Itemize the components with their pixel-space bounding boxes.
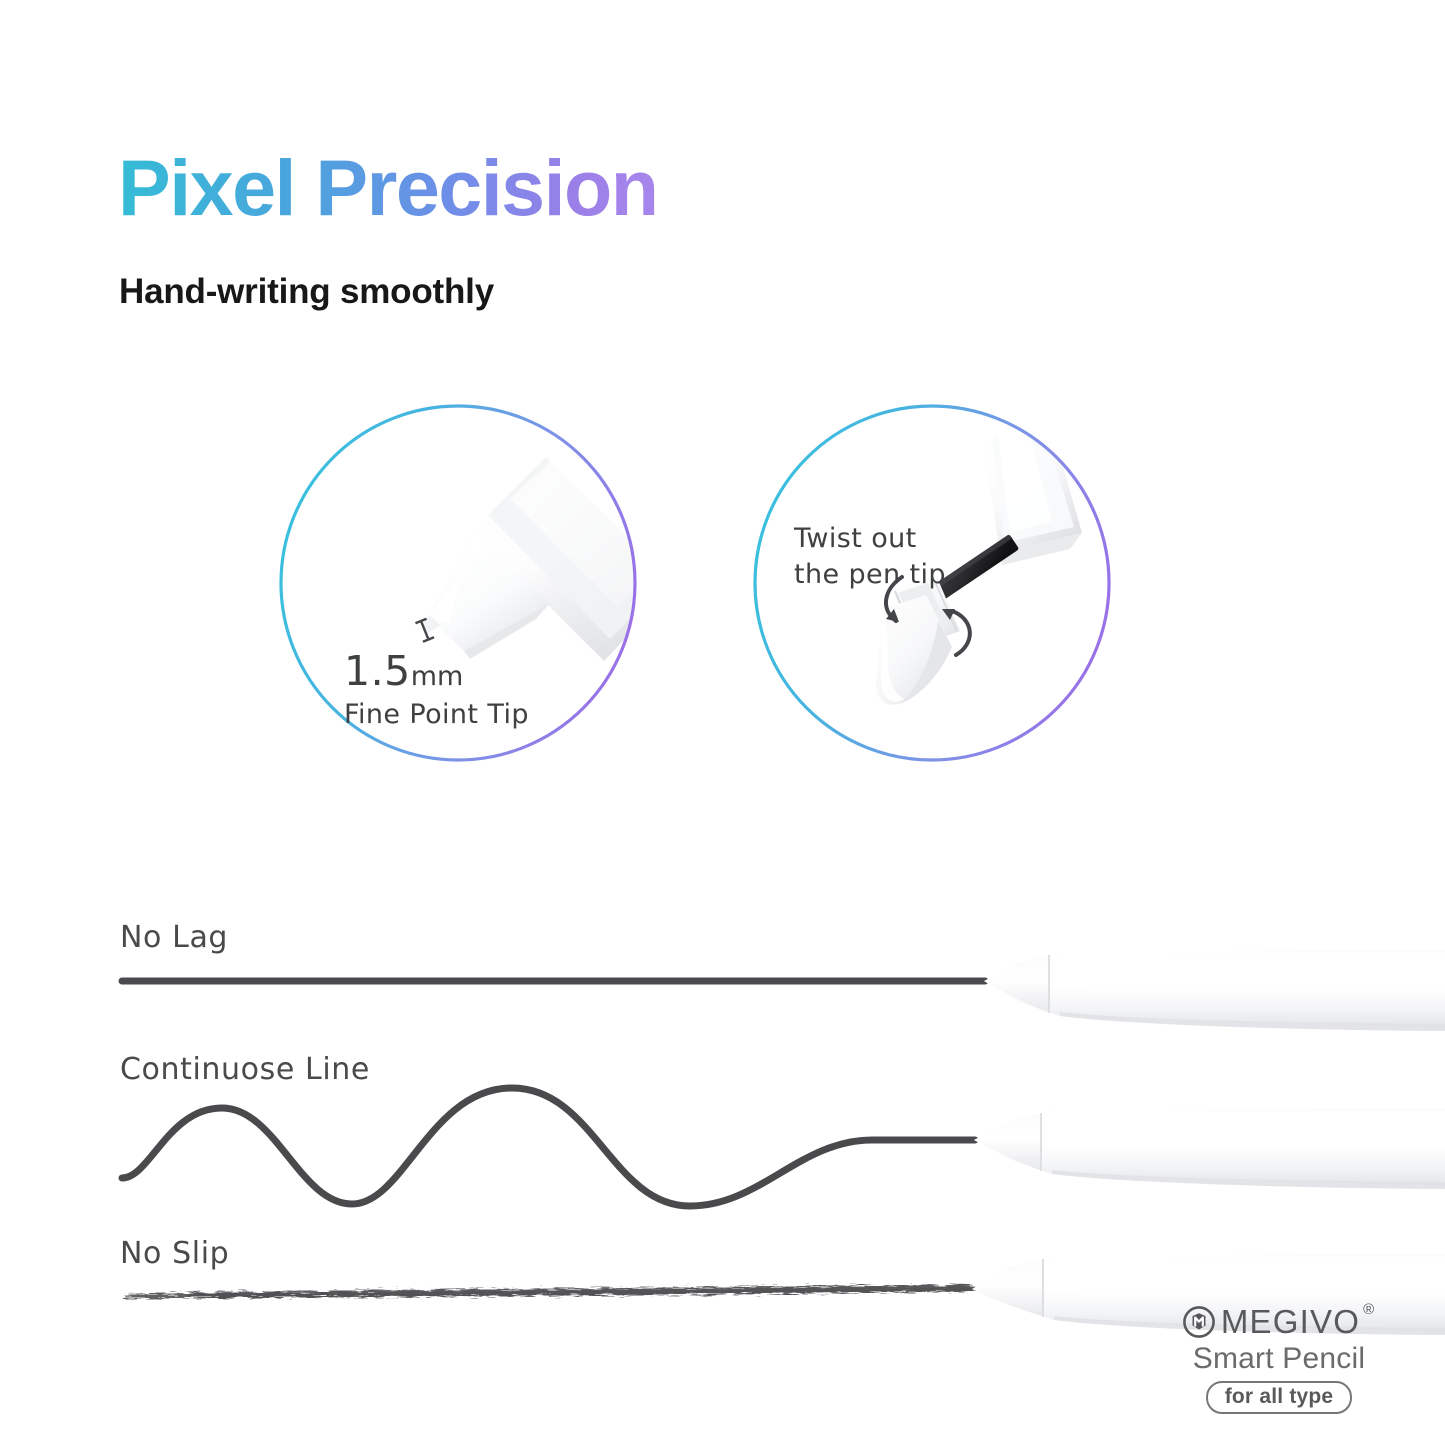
tip-size-value: 1.5	[344, 647, 411, 695]
tip-size-unit: mm	[411, 661, 464, 692]
product-name: Smart Pencil	[1148, 1342, 1410, 1376]
twist-caption: Twist out the pen tip	[794, 521, 946, 594]
registered-mark: ®	[1363, 1301, 1374, 1318]
tip-size-label: 1.5mm	[344, 647, 463, 695]
twist-caption-line2: the pen tip	[794, 557, 946, 593]
stylus-pen-no-lag	[984, 939, 1445, 1031]
demo-label-no-slip: No Slip	[120, 1236, 229, 1271]
stroke-continuous-wave	[122, 1088, 975, 1206]
stroke-no-slip	[126, 1288, 975, 1296]
page-title: Pixel Precision	[118, 148, 658, 227]
megivo-m-icon	[1182, 1305, 1216, 1339]
compatibility-badge: for all type	[1206, 1381, 1353, 1414]
tip-caption: Fine Point Tip	[344, 699, 529, 730]
brand-logo: MEGIVO ® Smart Pencil for all type	[1148, 1303, 1410, 1414]
brand-name: MEGIVO	[1221, 1303, 1360, 1341]
page-subtitle: Hand-writing smoothly	[119, 272, 494, 312]
feature-callout-twist-out-tip: Twist out the pen tip	[752, 403, 1112, 763]
demo-label-continuous: Continuose Line	[120, 1052, 370, 1087]
demo-label-no-lag: No Lag	[120, 920, 228, 955]
product-feature-graphic: Pixel Precision Hand-writing smoothly	[0, 0, 1445, 1446]
pen-tip-closeup	[422, 449, 638, 661]
twist-caption-line1: Twist out	[794, 521, 946, 557]
feature-callout-fine-point-tip: 1.5mm Fine Point Tip	[278, 403, 638, 763]
stylus-pen-continuous	[974, 1097, 1445, 1189]
